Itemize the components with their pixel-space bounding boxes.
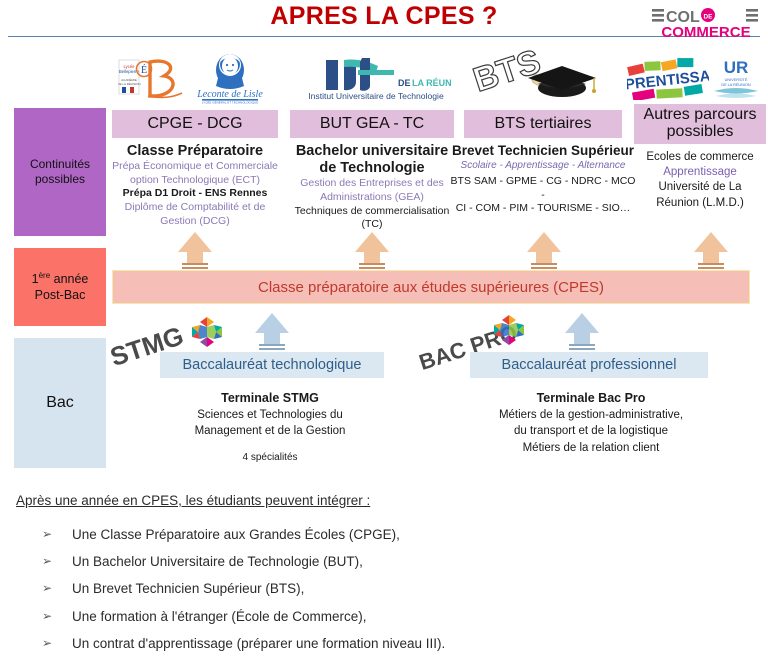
list-item: ➢ Un contrat d'apprentissage (préparer u… xyxy=(40,636,740,652)
column-header-cpge-dcg-label: CPGE - DCG xyxy=(147,116,242,133)
list-item: ➢ Une formation à l'étranger (École de C… xyxy=(40,609,740,625)
logo-universite-reunion: UR UNIVERSITÉ DE LA RÉUNION xyxy=(712,55,760,101)
bac-strip-professionnel-label: Baccalauréat professionnel xyxy=(502,357,677,373)
arrow-up-to-autres xyxy=(694,232,728,272)
svg-text:LA RÉUNION: LA RÉUNION xyxy=(412,78,452,88)
bac-strip-professionnel[interactable]: Baccalauréat professionnel xyxy=(470,352,708,378)
bac-body-technologique: Terminale STMG Sciences et Technologies … xyxy=(140,390,400,463)
autres-line-2: Apprentissage xyxy=(632,165,768,180)
pinwheel-icon-bac-pro xyxy=(492,313,526,347)
arrow-up-from-bac-pro xyxy=(565,313,599,353)
svg-text:COMMERCE: COMMERCE xyxy=(661,24,750,40)
cpge-line-4: Diplôme de Comptabilité et de xyxy=(108,201,282,215)
column-body-but-gea-tc: Bachelor universitaire de Technologie Ge… xyxy=(286,143,458,232)
cpes-banner-label: Classe préparatoire aux études supérieur… xyxy=(258,279,604,296)
list-item: ➢ Un Bachelor Universitaire de Technolog… xyxy=(40,554,740,570)
band-continuites-line2: possibles xyxy=(35,172,85,186)
column-header-bts-tertiaires-label: BTS tertiaires xyxy=(495,116,592,133)
terminale-stmg-title: Terminale STMG xyxy=(140,390,400,407)
footer-bullet-list: ➢ Une Classe Préparatoire aux Grandes Éc… xyxy=(40,527,740,663)
bac-strip-technologique-label: Baccalauréat technologique xyxy=(183,357,362,373)
but-line-1: Gestion des Entreprises et des xyxy=(286,177,458,191)
band-post-bac-line2: Post-Bac xyxy=(35,288,86,302)
logo-leconte-de-lisle: Leconte de Lisle LYCÉE GÉNÉRAL ET TECHNO… xyxy=(186,52,274,104)
bts-line-3: CI - COM - PIM - TOURISME - SIO… xyxy=(448,202,638,216)
logo-lycee-bellepierre: Lycée Bellepierre ACADÉMIE DE LA RÉUNION… xyxy=(118,52,186,104)
autres-line-4: Réunion (L.M.D.) xyxy=(632,196,768,211)
bts-line-2: BTS SAM - GPME - CG - NDRC - MCO - xyxy=(448,175,638,202)
column-header-but-gea-tc-label: BUT GEA - TC xyxy=(320,116,424,133)
terminale-stmg-sub-2: Management et de la Gestion xyxy=(140,423,400,439)
chevron-right-icon: ➢ xyxy=(40,554,72,568)
column-body-cpge-dcg: Classe Préparatoire Prépa Économique et … xyxy=(108,143,282,228)
svg-text:UNIVERSITÉ: UNIVERSITÉ xyxy=(725,77,748,82)
bac-strip-technologique[interactable]: Baccalauréat technologique xyxy=(160,352,384,378)
autres-line-1: Ecoles de commerce xyxy=(632,150,768,165)
svg-text:DE LA RÉUNION: DE LA RÉUNION xyxy=(118,81,141,86)
terminale-bac-pro-sub-2: du transport et de la logistique xyxy=(460,423,722,439)
footer-intro: Après une année en CPES, les étudiants p… xyxy=(16,493,370,508)
list-item: ➢ Un Brevet Technicien Supérieur (BTS), xyxy=(40,581,740,597)
bts-heading: Brevet Technicien Supérieur xyxy=(448,143,638,159)
pinwheel-icon-stmg xyxy=(190,315,224,349)
chevron-right-icon: ➢ xyxy=(40,609,72,623)
cpes-banner[interactable]: Classe préparatoire aux études supérieur… xyxy=(112,270,750,304)
autres-header-line2: possibles xyxy=(667,123,734,140)
terminale-bac-pro-sub-1: Métiers de la gestion-administrative, xyxy=(460,407,722,423)
chevron-right-icon: ➢ xyxy=(40,636,72,650)
arrow-up-to-but xyxy=(355,232,389,272)
list-item: ➢ Une Classe Préparatoire aux Grandes Éc… xyxy=(40,527,740,543)
arrow-up-to-cpge xyxy=(178,232,212,272)
terminale-bac-pro-sub-3: Métiers de la relation client xyxy=(460,440,722,456)
chevron-right-icon: ➢ xyxy=(40,527,72,541)
cpge-line-2: option Technologique (ECT) xyxy=(108,174,282,188)
terminale-stmg-sub-1: Sciences et Technologies du xyxy=(140,407,400,423)
cpge-line-1: Prépa Économique et Commerciale xyxy=(108,160,282,174)
svg-text:DE: DE xyxy=(704,14,714,21)
but-heading-line1: Bachelor universitaire xyxy=(286,143,458,160)
band-continuites-line1: Continuités xyxy=(30,157,90,171)
footer-bullet-4: Une formation à l'étranger (École de Com… xyxy=(72,609,366,625)
cpge-line-3: Prépa D1 Droit - ENS Rennes xyxy=(108,187,282,201)
svg-text:BTS: BTS xyxy=(470,48,545,100)
column-body-autres-parcours: Ecoles de commerce Apprentissage Univers… xyxy=(632,150,768,211)
band-post-bac-number: 1 xyxy=(32,272,39,286)
terminale-stmg-note: 4 spécialités xyxy=(140,452,400,463)
footer-bullet-2: Un Bachelor Universitaire de Technologie… xyxy=(72,554,363,570)
band-post-bac: 1ère année Post-Bac xyxy=(14,248,106,326)
autres-header-line1: Autres parcours xyxy=(644,106,757,123)
header-divider xyxy=(8,36,760,37)
cpge-line-5: Gestion (DCG) xyxy=(108,215,282,229)
logo-bts: BTS xyxy=(470,48,600,106)
but-line-3: Techniques de commercialisation (TC) xyxy=(286,205,458,232)
band-post-bac-ordinal: ère xyxy=(39,271,51,280)
footer-bullet-1: Une Classe Préparatoire aux Grandes Écol… xyxy=(72,527,400,543)
svg-text:DE LA RÉUNION: DE LA RÉUNION xyxy=(721,82,751,87)
svg-text:Leconte de Lisle: Leconte de Lisle xyxy=(196,89,263,100)
band-bac-label: Bac xyxy=(46,393,74,413)
svg-text:LYCÉE GÉNÉRAL ET TECHNOLOGIQUE: LYCÉE GÉNÉRAL ET TECHNOLOGIQUE xyxy=(202,100,258,105)
logo-ecole-de-commerce: COL DE COMMERCE xyxy=(650,6,762,40)
bac-body-professionnel: Terminale Bac Pro Métiers de la gestion-… xyxy=(460,390,722,456)
svg-text:É: É xyxy=(141,64,147,76)
logo-apprentissage: APPRENTISSAGE xyxy=(627,58,709,100)
autres-line-3: Université de La xyxy=(632,180,768,195)
column-header-but-gea-tc[interactable]: BUT GEA - TC xyxy=(290,110,454,138)
band-continuites-possibles: Continuités possibles xyxy=(14,108,106,236)
bts-line-1: Scolaire - Apprentissage - Alternance xyxy=(448,159,638,172)
column-header-bts-tertiaires[interactable]: BTS tertiaires xyxy=(464,110,622,138)
footer-bullet-3: Un Brevet Technicien Supérieur (BTS), xyxy=(72,581,304,597)
column-header-autres-parcours[interactable]: Autres parcours possibles xyxy=(634,104,766,144)
band-post-bac-year: année xyxy=(50,272,88,286)
arrow-up-from-bac-techno xyxy=(255,313,289,353)
slide-canvas: APRES LA CPES ? Lycée Bellepierre ACADÉM… xyxy=(0,0,768,656)
column-body-bts-tertiaires: Brevet Technicien Supérieur Scolaire - A… xyxy=(448,143,638,216)
arrow-up-to-bts xyxy=(527,232,561,272)
chevron-right-icon: ➢ xyxy=(40,581,72,595)
but-line-2: Administrations (GEA) xyxy=(286,191,458,205)
svg-text:Institut Universitaire de Tech: Institut Universitaire de Technologie xyxy=(308,91,444,101)
terminale-bac-pro-title: Terminale Bac Pro xyxy=(460,390,722,407)
column-header-cpge-dcg[interactable]: CPGE - DCG xyxy=(112,110,278,138)
footer-bullet-5: Un contrat d'apprentissage (préparer une… xyxy=(72,636,445,652)
cpge-heading: Classe Préparatoire xyxy=(108,143,282,160)
but-heading-line2: de Technologie xyxy=(286,160,458,177)
svg-text:DE: DE xyxy=(398,78,411,88)
band-bac: Bac xyxy=(14,338,106,468)
svg-text:UR: UR xyxy=(724,58,749,77)
logo-iut: DE LA RÉUNION Institut Universitaire de … xyxy=(300,52,452,104)
